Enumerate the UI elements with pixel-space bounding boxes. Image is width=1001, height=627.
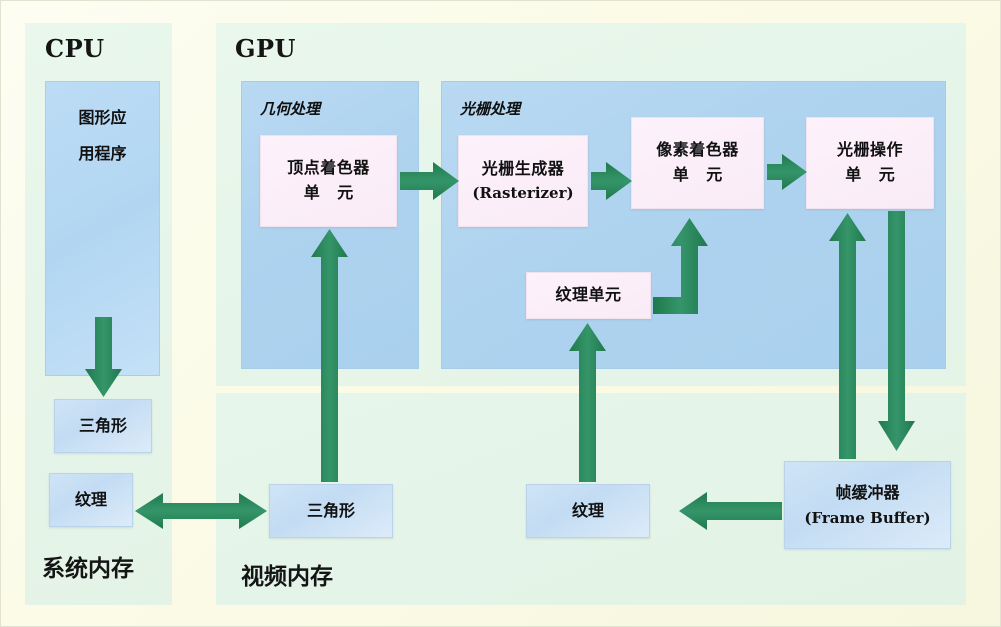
- box-texture-unit: 纹理单元: [526, 272, 651, 319]
- graphics-application-line2: 用程序: [46, 140, 159, 164]
- raster-operation-unit-line2: 单 元: [839, 163, 901, 188]
- group-geometry-processing-title: 几何处理: [260, 98, 320, 119]
- graphics-application-box: 图形应 用程序: [45, 81, 160, 376]
- sysmem-triangle-label: 三角形: [79, 413, 127, 439]
- label-cpu: CPU: [45, 34, 105, 63]
- label-video-memory: 视频内存: [241, 557, 333, 591]
- vertex-shader-unit-line1: 顶点着色器: [287, 156, 370, 181]
- box-rasterizer: 光栅生成器 (Rasterizer): [458, 135, 588, 227]
- frame-buffer-line2: (Frame Buffer): [804, 506, 930, 530]
- box-sysmem-triangle: 三角形: [54, 399, 152, 453]
- pixel-shader-unit-line1: 像素着色器: [656, 138, 739, 163]
- box-sysmem-texture: 纹理: [49, 473, 133, 527]
- group-raster-processing-title: 光栅处理: [460, 98, 520, 119]
- frame-buffer-line1: 帧缓冲器: [835, 480, 899, 506]
- box-raster-operation-unit: 光栅操作 单 元: [806, 117, 934, 209]
- box-vidmem-texture: 纹理: [526, 484, 650, 538]
- label-gpu: GPU: [235, 34, 296, 63]
- rasterizer-line2: (Rasterizer): [472, 182, 573, 205]
- label-system-memory: 系统内存: [42, 549, 134, 583]
- gpu-pipeline-diagram: CPU GPU 系统内存 视频内存 图形应 用程序 几何处理 光栅处理 顶点着色…: [0, 0, 1001, 627]
- raster-operation-unit-line1: 光栅操作: [837, 138, 903, 163]
- box-pixel-shader-unit: 像素着色器 单 元: [631, 117, 764, 209]
- sysmem-texture-label: 纹理: [75, 487, 107, 513]
- vertex-shader-unit-line2: 单 元: [298, 181, 360, 206]
- vidmem-triangle-label: 三角形: [307, 498, 355, 524]
- pixel-shader-unit-line2: 单 元: [667, 163, 729, 188]
- vidmem-texture-label: 纹理: [572, 498, 604, 524]
- box-vertex-shader-unit: 顶点着色器 单 元: [260, 135, 397, 227]
- graphics-application-line1: 图形应: [46, 104, 159, 128]
- texture-unit-line1: 纹理单元: [555, 283, 621, 308]
- box-frame-buffer: 帧缓冲器 (Frame Buffer): [784, 461, 951, 549]
- rasterizer-line1: 光栅生成器: [482, 157, 565, 182]
- box-vidmem-triangle: 三角形: [269, 484, 393, 538]
